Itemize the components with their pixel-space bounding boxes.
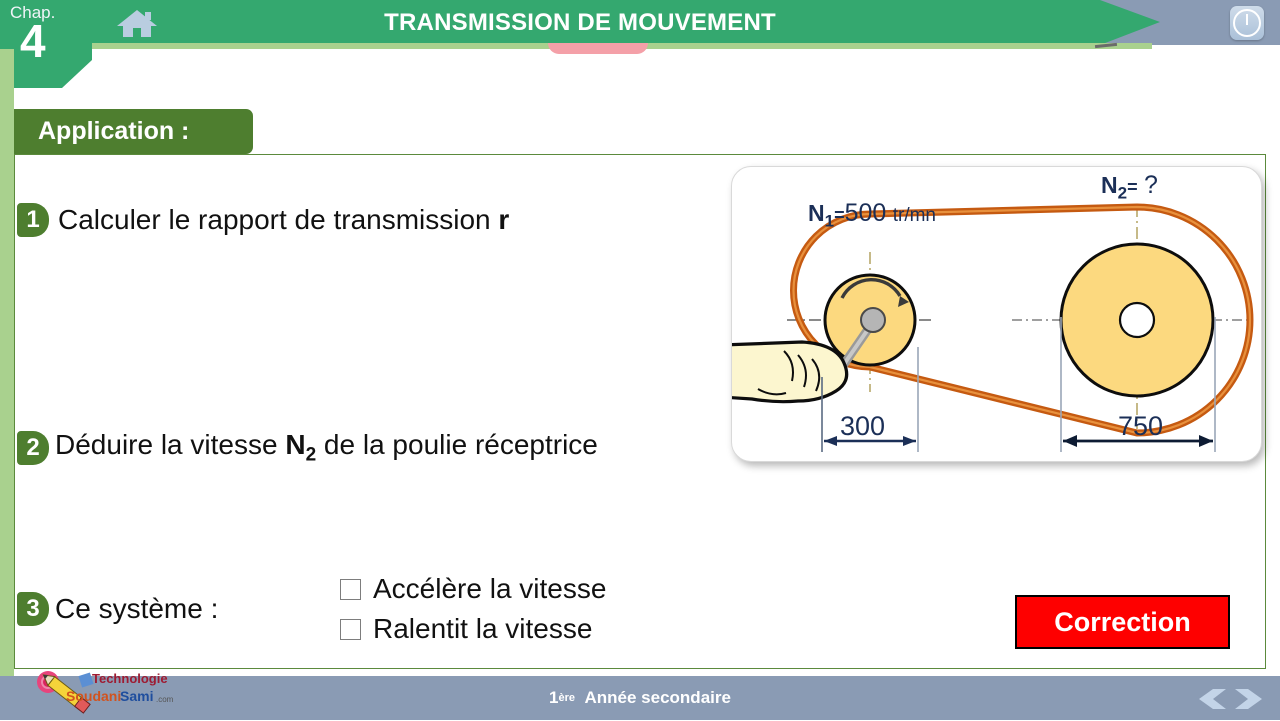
- site-logo[interactable]: Technologie Soudani Sami .com: [32, 668, 182, 716]
- left-green-band: [0, 88, 14, 692]
- option-ralentit-label: Ralentit la vitesse: [373, 613, 592, 645]
- logo-line2a: Soudani: [66, 688, 121, 704]
- checkbox-ralentit[interactable]: [340, 619, 361, 640]
- home-icon[interactable]: [114, 7, 160, 39]
- label-driven-speed: N2= ?: [1101, 171, 1158, 204]
- option-ralentit[interactable]: Ralentit la vitesse: [340, 613, 606, 645]
- checkbox-accelere[interactable]: [340, 579, 361, 600]
- application-banner-label: Application :: [38, 117, 189, 146]
- info-power-icon[interactable]: [1230, 6, 1264, 40]
- question-item-3: 3 Ce système :: [17, 592, 218, 626]
- chevron-left-icon[interactable]: [1193, 687, 1227, 711]
- question-text-2-tail: de la poulie réceptrice: [316, 429, 598, 460]
- question-badge-3: 3: [17, 592, 49, 626]
- label-driver-name: N: [808, 200, 825, 226]
- option-accelere-label: Accélère la vitesse: [373, 573, 606, 605]
- logo-line1: Technologie: [92, 671, 168, 686]
- footer-level-number: 1: [549, 688, 558, 708]
- question-item-2: 2 Déduire la vitesse N2 de la poulie réc…: [17, 429, 598, 467]
- question-badge-2: 2: [17, 431, 49, 465]
- hand-icon: [732, 342, 847, 402]
- label-driver-unit: tr/mn: [893, 205, 936, 226]
- label-driver-sub: 1: [825, 212, 834, 231]
- label-driver-speed: N1=500 tr/mn: [808, 199, 936, 232]
- power-ring: [1233, 9, 1261, 37]
- question-item-1: 1 Calculer le rapport de transmission r: [17, 203, 509, 237]
- logo-line2b: Sami: [120, 688, 153, 704]
- label-driven-name: N: [1101, 172, 1118, 198]
- dimension-large-label: 750: [1118, 411, 1163, 442]
- footer-level-text: Année secondaire: [585, 688, 731, 708]
- question-text-1-main: Calculer le rapport de transmission: [58, 204, 498, 235]
- page-title: TRANSMISSION DE MOUVEMENT: [0, 0, 1160, 45]
- decor-strip-pink: [548, 43, 648, 54]
- footer-level: 1ère Année secondaire: [0, 676, 1280, 720]
- logo-line2c: .com: [156, 695, 174, 704]
- label-driver-eq: =: [834, 205, 845, 225]
- label-driven-sub: 2: [1118, 184, 1127, 203]
- question-text-2-sub: 2: [306, 445, 317, 466]
- application-banner: Application :: [14, 109, 253, 154]
- answer-options: Accélère la vitesse Ralentit la vitesse: [340, 573, 606, 653]
- chapter-number: 4: [20, 18, 46, 64]
- footer-level-sup: ère: [559, 692, 576, 704]
- slide-root: TRANSMISSION DE MOUVEMENT Chap. 4 Applic…: [0, 0, 1280, 720]
- left-band-top: [0, 49, 14, 89]
- label-driven-value: ?: [1144, 171, 1158, 199]
- question-text-2: Déduire la vitesse N2 de la poulie récep…: [55, 429, 598, 467]
- crank-hub: [861, 308, 885, 332]
- label-driven-eq: =: [1127, 177, 1138, 197]
- question-text-1-bold: r: [498, 204, 509, 235]
- footer-navigation: [1193, 687, 1268, 711]
- label-driver-value: 500: [845, 199, 887, 227]
- option-accelere[interactable]: Accélère la vitesse: [340, 573, 606, 605]
- correction-button-label: Correction: [1054, 607, 1191, 638]
- question-text-3: Ce système :: [55, 593, 218, 625]
- correction-button[interactable]: Correction: [1015, 595, 1230, 649]
- question-badge-1: 1: [17, 203, 49, 237]
- question-text-2-bold: N: [285, 429, 305, 460]
- question-text-2-main: Déduire la vitesse: [55, 429, 285, 460]
- driven-pulley-hub: [1120, 303, 1154, 337]
- question-text-1: Calculer le rapport de transmission r: [58, 204, 509, 236]
- dimension-small-label: 300: [840, 411, 885, 442]
- chevron-right-icon[interactable]: [1234, 687, 1268, 711]
